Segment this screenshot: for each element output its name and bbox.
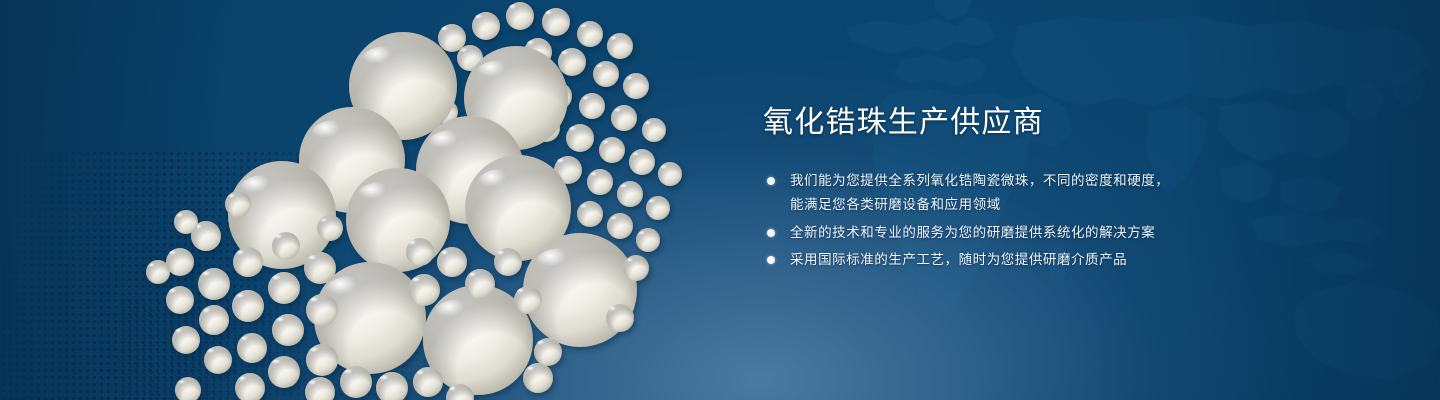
list-item-line: 采用国际标准的生产工艺，随时为您提供研磨介质产品 (790, 248, 1233, 272)
hero-banner: 氧化锆珠生产供应商 我们能为您提供全系列氧化锆陶瓷微珠，不同的密度和硬度， 能满… (0, 0, 1440, 400)
page-title: 氧化锆珠生产供应商 (763, 104, 1233, 142)
list-item-line: 能满足您各类研磨设备和应用领域 (790, 193, 1233, 217)
list-item-line: 全新的技术和专业的服务为您的研磨提供系统化的解决方案 (790, 221, 1233, 245)
list-item: 我们能为您提供全系列氧化锆陶瓷微珠，不同的密度和硬度， 能满足您各类研磨设备和应… (763, 169, 1233, 217)
bullet-dot-icon (767, 177, 775, 185)
list-item-line: 我们能为您提供全系列氧化锆陶瓷微珠，不同的密度和硬度， (790, 169, 1233, 193)
list-item: 全新的技术和专业的服务为您的研磨提供系统化的解决方案 (763, 221, 1233, 245)
feature-list: 我们能为您提供全系列氧化锆陶瓷微珠，不同的密度和硬度， 能满足您各类研磨设备和应… (763, 169, 1233, 272)
banner-copy: 氧化锆珠生产供应商 我们能为您提供全系列氧化锆陶瓷微珠，不同的密度和硬度， 能满… (763, 104, 1233, 275)
zirconia-beads-photo (0, 0, 780, 400)
bullet-dot-icon (767, 229, 775, 237)
list-item: 采用国际标准的生产工艺，随时为您提供研磨介质产品 (763, 248, 1233, 272)
bullet-dot-icon (767, 256, 775, 264)
